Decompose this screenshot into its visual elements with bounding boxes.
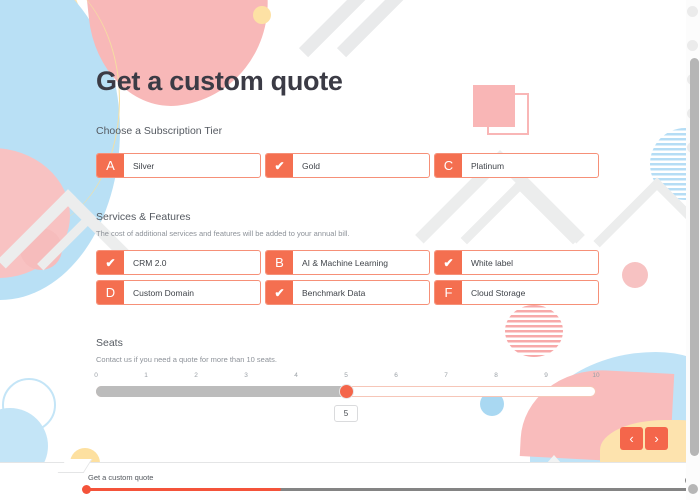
seats-slider-tick: 6 (394, 372, 398, 379)
app-root: Get a custom quote Choose a Subscription… (0, 0, 700, 500)
prev-button[interactable]: ‹ (620, 427, 643, 450)
feature-option-cloud-storage-key: F (435, 281, 462, 304)
tier-option-platinum-key: C (435, 154, 462, 177)
feature-option-benchmark-label: Benchmark Data (293, 281, 429, 304)
feature-option-crm[interactable]: ✔ CRM 2.0 (96, 250, 261, 275)
scrollbar-dot (687, 6, 698, 17)
tier-section-label: Choose a Subscription Tier (96, 125, 222, 137)
feature-option-benchmark[interactable]: ✔ Benchmark Data (265, 280, 430, 305)
scrollbar-thumb[interactable] (690, 58, 699, 456)
feature-option-custom-domain-key: D (97, 281, 124, 304)
feature-option-ai-label: AI & Machine Learning (293, 251, 429, 274)
features-section-label: Services & Features (96, 211, 191, 223)
scrollbar-bottom-dot (688, 484, 698, 494)
seats-slider-tick: 2 (194, 372, 198, 379)
tier-option-platinum[interactable]: C Platinum (434, 153, 599, 178)
feature-option-cloud-storage[interactable]: F Cloud Storage (434, 280, 599, 305)
seats-slider-tick: 10 (592, 372, 599, 379)
feature-option-white-label[interactable]: ✔ White label (434, 250, 599, 275)
check-icon: ✔ (266, 154, 293, 177)
progress-track[interactable] (86, 488, 694, 491)
feature-option-ai[interactable]: B AI & Machine Learning (265, 250, 430, 275)
nav-arrows: ‹ › (620, 427, 668, 450)
check-icon: ✔ (97, 251, 124, 274)
feature-option-cloud-storage-label: Cloud Storage (462, 281, 598, 304)
feature-option-crm-label: CRM 2.0 (124, 251, 260, 274)
scrollbar-dot (687, 40, 698, 51)
features-section-help: The cost of additional services and feat… (96, 229, 349, 238)
footer-bar: Get a custom quote (0, 462, 686, 500)
progress-fill (86, 488, 281, 491)
tier-option-silver-label: Silver (124, 154, 260, 177)
seats-slider-fill (96, 386, 346, 397)
next-button[interactable]: › (645, 427, 668, 450)
seats-slider-tick: 5 (344, 372, 348, 379)
seats-slider-tick: 4 (294, 372, 298, 379)
tier-option-gold-label: Gold (293, 154, 429, 177)
seats-slider-value: 5 (334, 405, 358, 422)
seats-slider-thumb[interactable] (339, 384, 354, 399)
seats-slider[interactable]: 012345678910 5 (96, 372, 596, 384)
feature-option-custom-domain[interactable]: D Custom Domain (96, 280, 261, 305)
feature-option-ai-key: B (266, 251, 293, 274)
page-title: Get a custom quote (96, 66, 343, 97)
check-icon: ✔ (435, 251, 462, 274)
seats-slider-ticks: 012345678910 (96, 372, 596, 384)
seats-slider-tick: 8 (494, 372, 498, 379)
seats-section-label: Seats (96, 337, 123, 349)
seats-slider-tick: 7 (444, 372, 448, 379)
scrollbar[interactable] (686, 0, 700, 500)
tier-option-silver-key: A (97, 154, 124, 177)
tier-option-gold[interactable]: ✔ Gold (265, 153, 430, 178)
seats-slider-tick: 9 (544, 372, 548, 379)
form-content: Get a custom quote Choose a Subscription… (0, 0, 686, 500)
seats-slider-tick: 1 (144, 372, 148, 379)
footer-notch (58, 459, 93, 473)
seats-slider-tick: 3 (244, 372, 248, 379)
feature-option-custom-domain-label: Custom Domain (124, 281, 260, 304)
tier-option-platinum-label: Platinum (462, 154, 598, 177)
seats-slider-tick: 0 (94, 372, 98, 379)
check-icon: ✔ (266, 281, 293, 304)
feature-option-white-label-label: White label (462, 251, 598, 274)
progress-start-knob[interactable] (82, 485, 91, 494)
progress-label: Get a custom quote (88, 473, 153, 482)
tier-option-silver[interactable]: A Silver (96, 153, 261, 178)
seats-section-help: Contact us if you need a quote for more … (96, 355, 277, 364)
